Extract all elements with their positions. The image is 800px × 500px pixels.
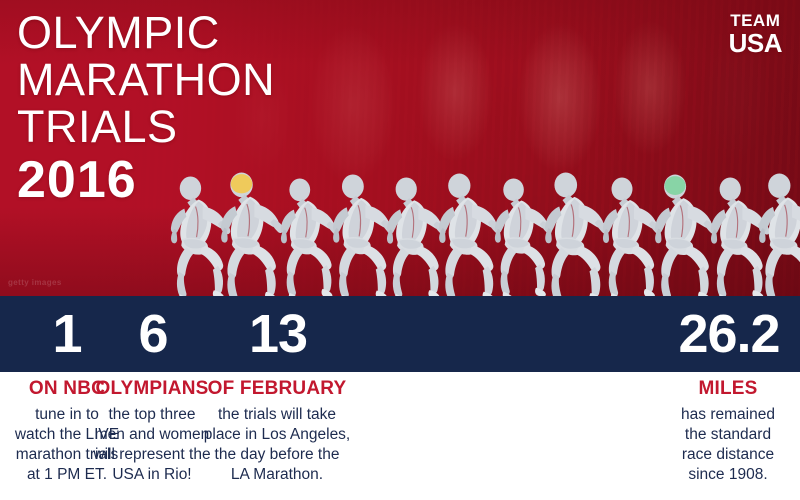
stat-number-band: 1 6 13 26.2: [0, 296, 800, 372]
stat-description-line: the day before the: [172, 445, 382, 465]
stat-number-row: 1 6 13 26.2: [0, 296, 800, 372]
title-line-2: MARATHON: [17, 58, 437, 102]
hero-banner: OLYMPIC MARATHON TRIALS 2016 TEAM USA ge…: [0, 0, 800, 296]
stat-column: MILES has remained the standard race dis…: [623, 372, 800, 485]
stat-details-section: ON NBC tune in to watch the LIVE maratho…: [0, 372, 800, 500]
page-title: OLYMPIC MARATHON TRIALS 2016: [17, 11, 437, 206]
stat-column: OF FEBRUARY the trials will take place i…: [172, 372, 382, 485]
photo-watermark: getty images: [8, 278, 62, 287]
stat-description-line: the trials will take: [172, 405, 382, 425]
stat-heading: MILES: [623, 379, 800, 398]
stat-description: the trials will take place in Los Angele…: [172, 405, 382, 485]
stat-number: 6: [138, 298, 167, 370]
stat-description-line: the standard: [623, 425, 800, 445]
stat-description-line: since 1908.: [623, 465, 800, 485]
stat-description: has remained the standard race distance …: [623, 405, 800, 485]
infographic-poster: OLYMPIC MARATHON TRIALS 2016 TEAM USA ge…: [0, 0, 800, 500]
stat-number: 13: [249, 298, 307, 370]
stat-number: 1: [52, 298, 81, 370]
logo-team-text: TEAM: [729, 12, 782, 29]
title-year: 2016: [17, 155, 437, 206]
team-usa-logo: TEAM USA: [729, 12, 782, 56]
title-line-1: OLYMPIC: [17, 11, 437, 55]
stat-description-line: race distance: [623, 445, 800, 465]
logo-usa-text: USA: [729, 30, 782, 56]
stat-number: 26.2: [678, 298, 779, 370]
stat-description-line: place in Los Angeles,: [172, 425, 382, 445]
stat-description-line: has remained: [623, 405, 800, 425]
stat-description-line: LA Marathon.: [172, 465, 382, 485]
stat-heading: OF FEBRUARY: [172, 379, 382, 398]
title-line-3: TRIALS: [17, 105, 437, 149]
